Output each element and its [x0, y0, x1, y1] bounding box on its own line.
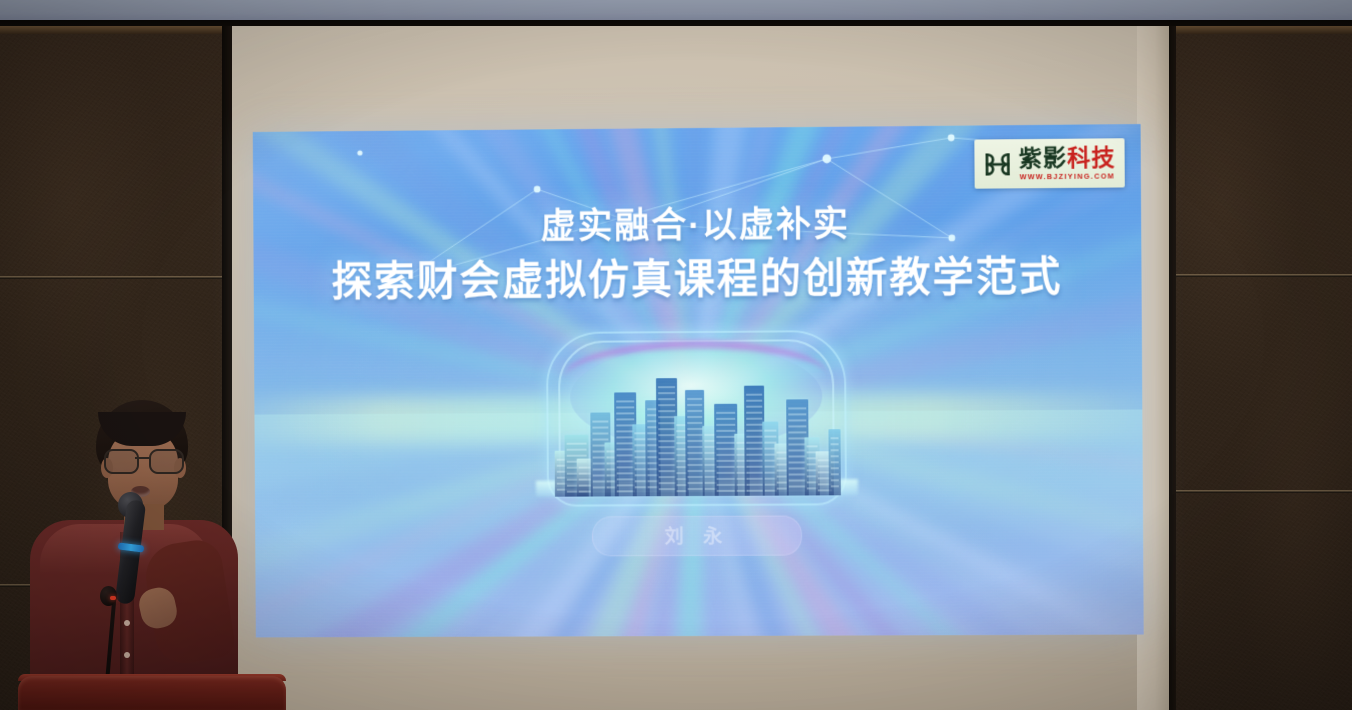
building-windows — [746, 394, 763, 492]
building-windows — [831, 437, 839, 491]
speaker-subtitle — [582, 570, 812, 593]
headline-line-2: 探索财会虚拟仿真课程的创新教学范式 — [254, 249, 1142, 308]
logo-url: WWW.BJZIYING.COM — [1020, 172, 1115, 180]
wall-seam — [0, 276, 232, 279]
building-windows — [658, 386, 676, 492]
projected-slide: 虚实融合·以虚补实 探索财会虚拟仿真课程的创新教学范式 刘 永 紫影科技 W — [253, 124, 1144, 637]
presentation-scene: 虚实融合·以虚补实 探索财会虚拟仿真课程的创新教学范式 刘 永 紫影科技 W — [0, 0, 1352, 710]
speaker-name: 刘 永 — [593, 516, 801, 555]
headline-line-1: 虚实融合·以虚补实 — [253, 200, 1141, 252]
wall-panel-right — [1168, 26, 1352, 710]
shirt-button — [124, 652, 130, 658]
building-windows — [687, 398, 703, 492]
glasses-bridge — [135, 457, 149, 459]
building-windows — [579, 467, 591, 493]
ceiling — [0, 0, 1352, 22]
logo-text: 紫影科技 WWW.BJZIYING.COM — [1019, 147, 1116, 180]
wall-texture-right — [1168, 26, 1352, 710]
wall-seam — [1168, 490, 1352, 493]
shirt-button — [124, 620, 130, 626]
logo-name-dark: 紫影 — [1019, 146, 1068, 173]
logo-company-name: 紫影科技 — [1019, 147, 1116, 171]
brand-logo: 紫影科技 WWW.BJZIYING.COM — [974, 138, 1124, 188]
podium — [18, 676, 286, 710]
logo-name-red: 科技 — [1067, 145, 1116, 172]
presenter — [0, 392, 250, 710]
building-windows — [716, 412, 735, 492]
glasses-lens-right — [149, 449, 184, 474]
city-skyline — [552, 377, 841, 497]
glasses-lens-left — [104, 449, 139, 474]
wall-trim-left — [0, 26, 232, 34]
vr-portal-graphic — [546, 330, 847, 507]
slide-headline: 虚实融合·以虚补实 探索财会虚拟仿真课程的创新教学范式 — [253, 200, 1141, 308]
wall-trim-right — [1168, 26, 1352, 34]
ziying-logo-icon — [982, 149, 1012, 179]
building-windows — [776, 452, 786, 492]
podium-microphone-led — [110, 596, 116, 600]
wall-seam — [1168, 274, 1352, 277]
glasses-icon — [102, 449, 184, 471]
